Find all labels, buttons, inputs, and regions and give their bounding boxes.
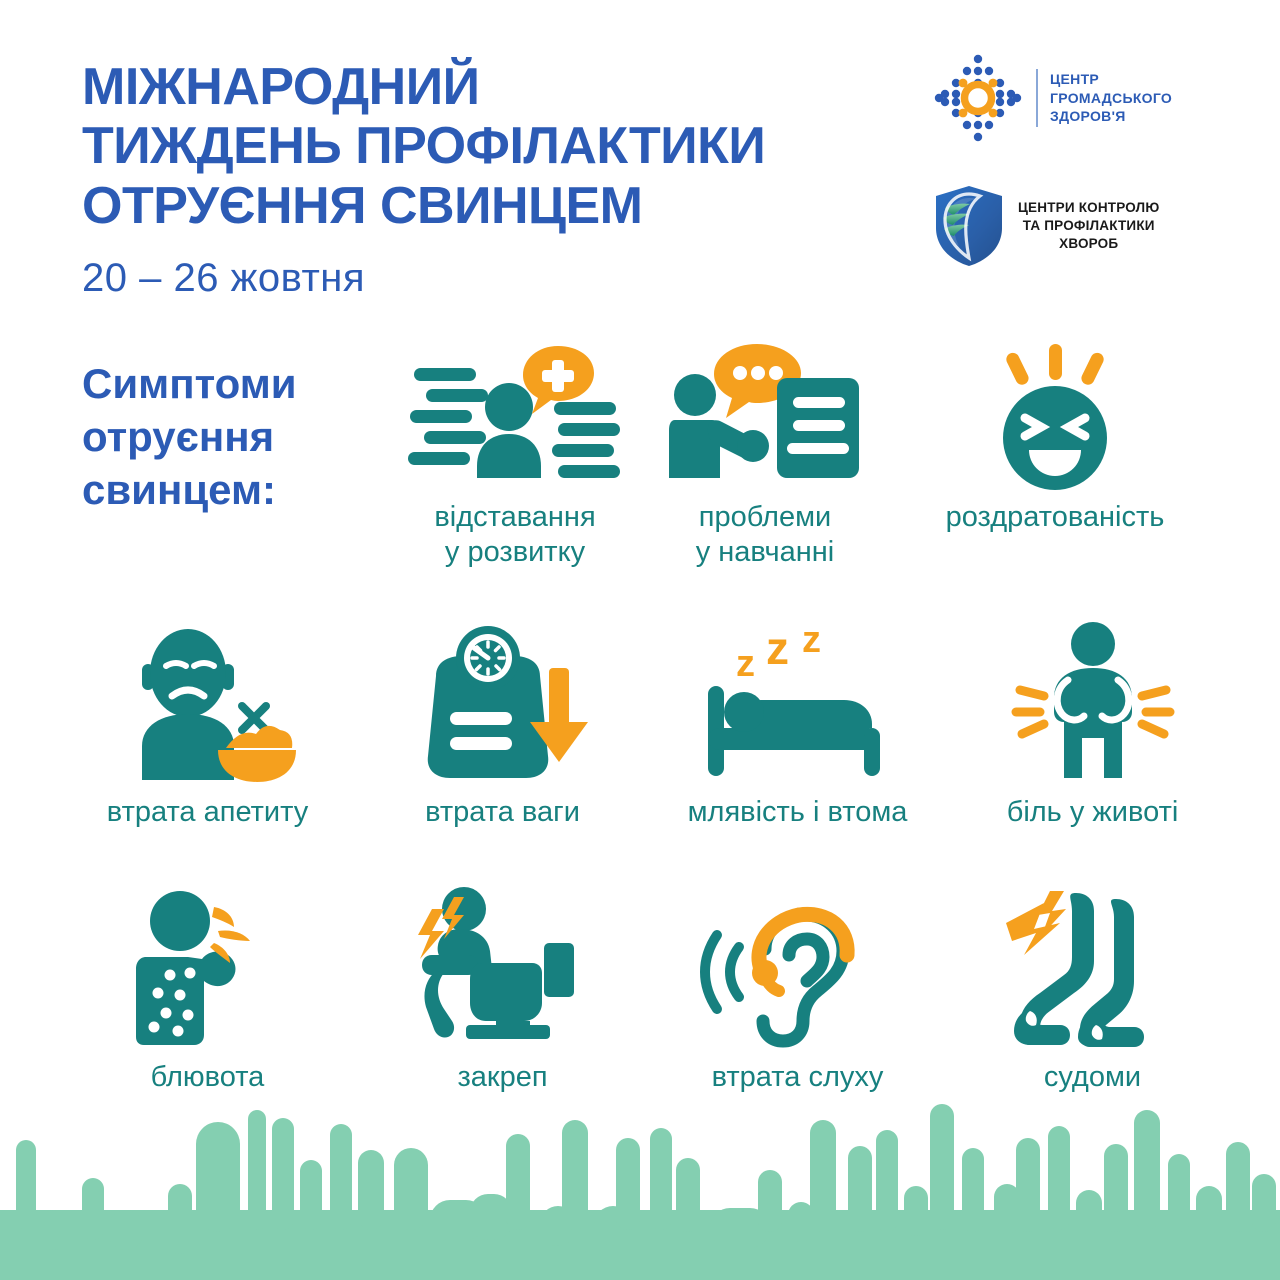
- symptom-row-3: блювота: [60, 885, 1240, 1095]
- symptom-label: втрата апетиту: [107, 795, 308, 830]
- symptom-label: відставання у розвитку: [434, 500, 595, 571]
- symptom-hearing-loss: втрата слуху: [650, 885, 945, 1095]
- learning-problems-icon: [665, 340, 865, 490]
- logo-divider: [1036, 69, 1038, 127]
- logo-disease-control-label: ЦЕНТРИ КОНТРОЛЮ ТА ПРОФІЛАКТИКИ ХВОРОБ: [1018, 199, 1159, 253]
- logo-disease-control: ЦЕНТРИ КОНТРОЛЮ ТА ПРОФІЛАКТИКИ ХВОРОБ: [932, 184, 1222, 268]
- symptom-constipation: закреп: [355, 885, 650, 1095]
- leg-cramps-icon: [998, 885, 1188, 1050]
- symptom-label: проблеми у навчанні: [696, 500, 835, 571]
- svg-text:z: z: [802, 619, 821, 661]
- header: МІЖНАРОДНИЙ ТИЖДЕНЬ ПРОФІЛАКТИКИ ОТРУЄНН…: [0, 0, 1280, 320]
- hearing-loss-ear-icon: [703, 885, 893, 1050]
- symptom-label: млявість і втома: [688, 795, 908, 830]
- appetite-loss-icon: [108, 620, 308, 785]
- symptom-irritability: роздратованість: [890, 340, 1220, 571]
- logo-public-health-center: ЦЕНТР ГРОМАДСЬКОГО ЗДОРОВ'Я: [932, 52, 1222, 144]
- symptom-label: роздратованість: [946, 500, 1165, 535]
- symptom-vomiting: блювота: [60, 885, 355, 1095]
- symptom-abdominal-pain: біль у животі: [945, 620, 1240, 830]
- constipation-toilet-icon: [408, 885, 598, 1050]
- logo-public-health-center-label: ЦЕНТР ГРОМАДСЬКОГО ЗДОРОВ'Я: [1050, 70, 1172, 125]
- symptom-learning-problems: проблеми у навчанні: [640, 340, 890, 571]
- symptom-weight-loss: втрата ваги: [355, 620, 650, 830]
- date-range: 20 – 26 жовтня: [82, 256, 902, 301]
- symptom-label: біль у животі: [1007, 795, 1179, 830]
- dot-burst-logo-icon: [932, 52, 1024, 144]
- symptom-row-2: втрата апетиту: [60, 620, 1240, 830]
- symptom-appetite-loss: втрата апетиту: [60, 620, 355, 830]
- fatigue-sleeping-icon: z z z: [688, 620, 908, 785]
- weight-loss-scale-icon: [408, 620, 598, 785]
- irritability-face-icon: [965, 340, 1145, 490]
- symptom-row-1: відставання у розвитку: [390, 340, 1240, 571]
- abdominal-pain-icon: [988, 620, 1198, 785]
- title-line-1: МІЖНАРОДНИЙ: [82, 58, 902, 117]
- developmental-delay-icon: [406, 340, 624, 490]
- vomiting-icon: [118, 885, 298, 1050]
- svg-text:z: z: [736, 643, 755, 685]
- infographic-page: МІЖНАРОДНИЙ ТИЖДЕНЬ ПРОФІЛАКТИКИ ОТРУЄНН…: [0, 0, 1280, 1280]
- section-heading: Симптоми отруєння свинцем:: [82, 358, 412, 517]
- logo-group: ЦЕНТР ГРОМАДСЬКОГО ЗДОРОВ'Я: [932, 52, 1222, 268]
- symptom-fatigue: z z z млявість і втома: [650, 620, 945, 830]
- svg-text:z: z: [766, 622, 789, 674]
- title-line-2: ТИЖДЕНЬ ПРОФІЛАКТИКИ: [82, 117, 902, 176]
- symptom-label: втрата ваги: [425, 795, 580, 830]
- title-line-3: ОТРУЄННЯ СВИНЦЕМ: [82, 177, 902, 236]
- symptom-developmental-delay: відставання у розвитку: [390, 340, 640, 571]
- title-block: МІЖНАРОДНИЙ ТИЖДЕНЬ ПРОФІЛАКТИКИ ОТРУЄНН…: [82, 58, 902, 301]
- mint-bar-wave: [0, 1090, 1280, 1280]
- symptom-cramps: судоми: [945, 885, 1240, 1095]
- shield-logo-icon: [932, 184, 1006, 268]
